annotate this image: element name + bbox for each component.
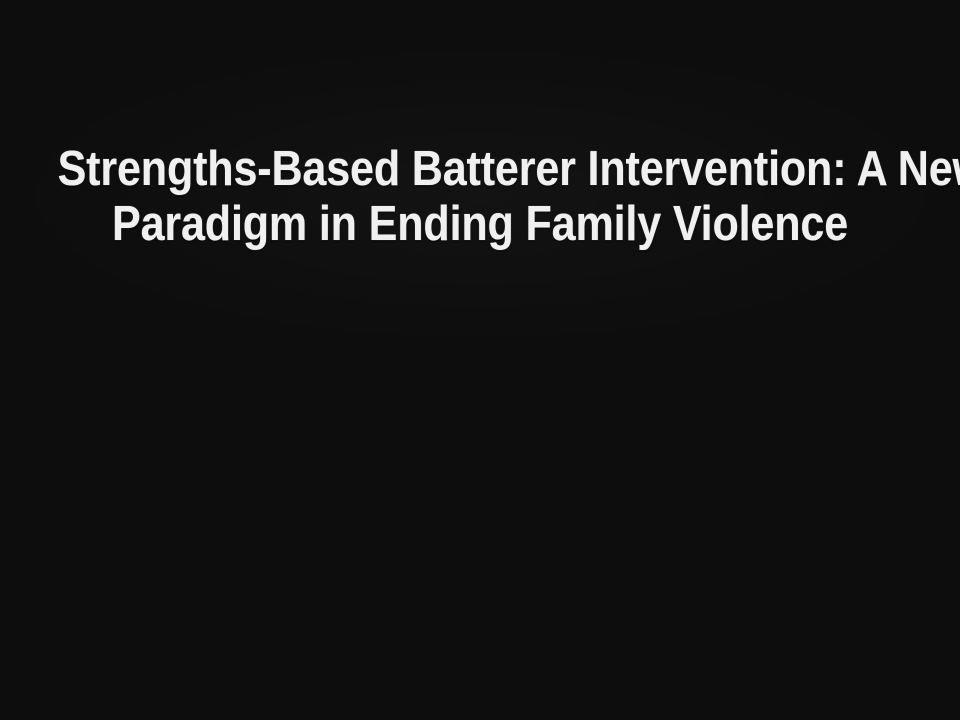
book-title-line-2: Paradigm in Ending Family Violence (58, 197, 903, 252)
book-title-line-1: Strengths-Based Batterer Intervention: A… (58, 142, 903, 197)
cover-canvas: Strengths-Based Batterer Intervention: A… (0, 0, 960, 720)
book-title: Strengths-Based Batterer Intervention: A… (0, 142, 960, 252)
